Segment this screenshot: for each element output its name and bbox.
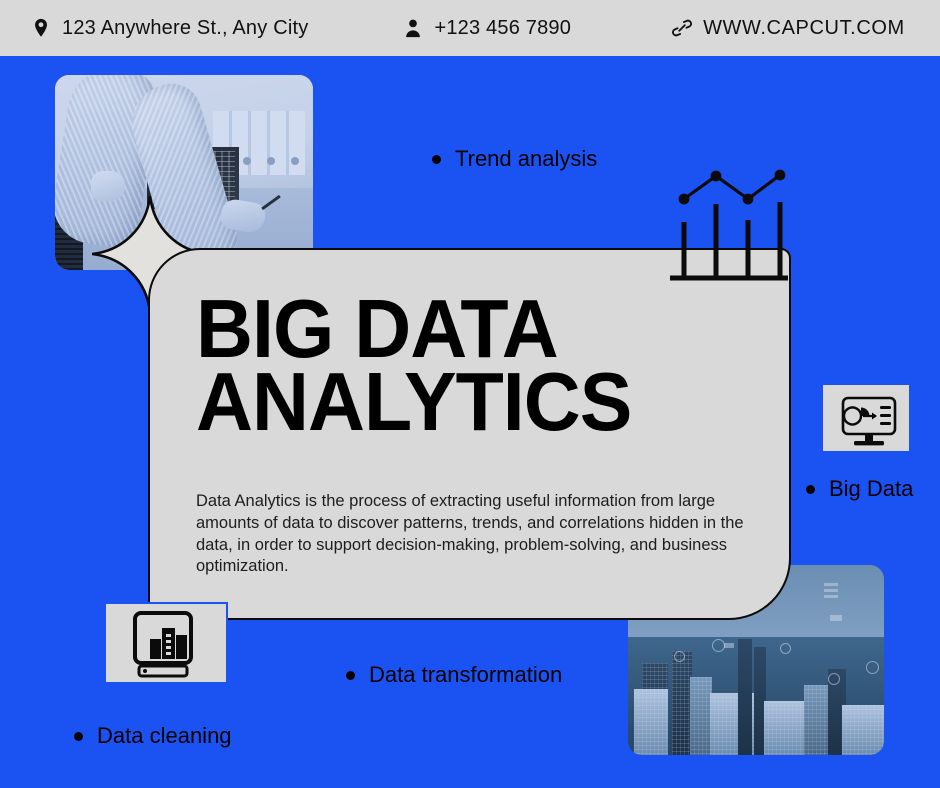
monitor-pie-chart-icon-card [820, 382, 912, 454]
person-icon [402, 17, 424, 39]
header-phone: +123 456 7890 [402, 17, 571, 40]
bullet-dot-icon [806, 485, 815, 494]
bullet-label: Trend analysis [455, 146, 597, 172]
link-icon [671, 17, 693, 39]
header-website-text: WWW.CAPCUT.COM [703, 17, 905, 40]
header-website: WWW.CAPCUT.COM [671, 17, 905, 40]
bullet-dot-icon [346, 671, 355, 680]
monitor-pie-chart-icon [823, 385, 915, 457]
bullet-label: Big Data [829, 476, 913, 502]
bullet-dot-icon [74, 732, 83, 741]
header-address: 123 Anywhere St., Any City [30, 17, 308, 40]
contact-header-bar: 123 Anywhere St., Any City +123 456 7890… [0, 0, 940, 56]
bullet-dot-icon [432, 155, 441, 164]
bar-line-chart-graphic [660, 152, 808, 294]
header-address-text: 123 Anywhere St., Any City [62, 17, 308, 40]
page-title: BIG DATA ANALYTICS [196, 292, 728, 438]
bullet-label: Data transformation [369, 662, 562, 688]
bullet-big-data: Big Data [806, 476, 913, 502]
laptop-bar-chart-icon [106, 604, 230, 686]
body-paragraph: Data Analytics is the process of extract… [196, 491, 750, 578]
bullet-trend-analysis: Trend analysis [432, 146, 597, 172]
laptop-bar-chart-icon-card [104, 602, 228, 684]
header-phone-text: +123 456 7890 [434, 17, 571, 40]
location-pin-icon [30, 17, 52, 39]
bullet-data-transformation: Data transformation [346, 662, 562, 688]
main-content-card: BIG DATA ANALYTICS Data Analytics is the… [148, 248, 791, 620]
bullet-data-cleaning: Data cleaning [74, 723, 232, 749]
bullet-label: Data cleaning [97, 723, 232, 749]
